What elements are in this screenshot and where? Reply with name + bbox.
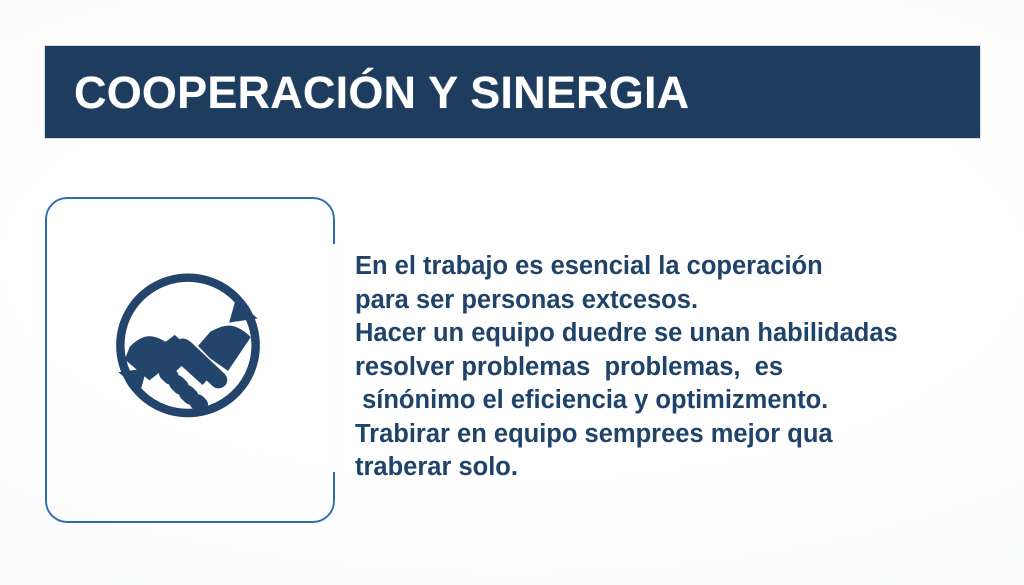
body-line: Trabirar en equipo semprees mejor qua — [355, 418, 955, 452]
handshake-cycle-icon — [97, 258, 279, 440]
body-line: Hacer un equipo duedre se unan habilidad… — [355, 317, 955, 351]
body-paragraph: En el trabajo es esencial la coperación … — [355, 250, 955, 485]
body-line: resolver problemas problemas, es — [355, 351, 955, 385]
page-title: COOPERACIÓN Y SINERGIA — [45, 70, 689, 115]
body-line: traberar solo. — [355, 451, 955, 485]
slide-canvas: COOPERACIÓN Y SINERGIA — [0, 0, 1024, 585]
icon-card-border-gap — [328, 244, 344, 472]
body-line: En el trabajo es esencial la coperación — [355, 250, 955, 284]
body-line: sínónimo el eficiencia y optimizmento. — [355, 384, 955, 418]
title-bar: COOPERACIÓN Y SINERGIA — [45, 46, 980, 138]
body-line: para ser personas extcesos. — [355, 284, 955, 318]
